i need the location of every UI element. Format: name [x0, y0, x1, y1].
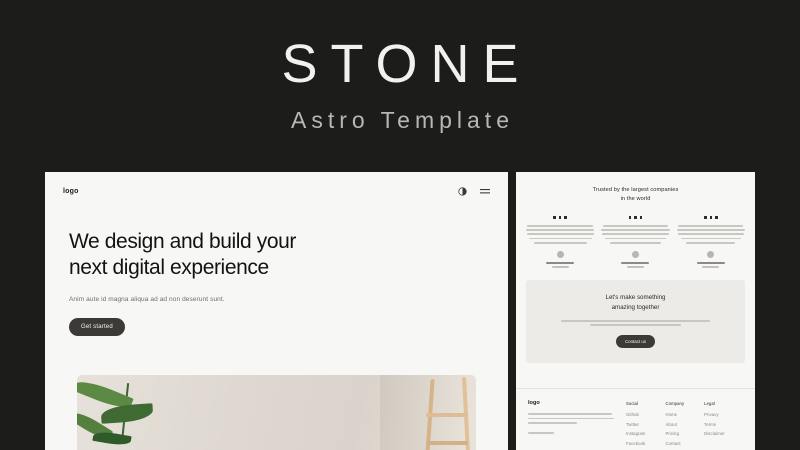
rating-stars — [526, 216, 594, 219]
footer-link[interactable]: Github — [626, 412, 646, 417]
hero-subheading: Anim aute id magna aliqua ad ad non dese… — [69, 296, 484, 303]
ladder-rung — [426, 413, 468, 417]
site-header: logo — [45, 177, 508, 205]
preview-panels: logo We design and build your next di — [45, 172, 755, 450]
avatar — [557, 251, 564, 258]
plant-leaf — [100, 403, 153, 424]
cta-section: Let's make something amazing together Co… — [526, 280, 745, 363]
landing-page-preview[interactable]: logo We design and build your next di — [45, 172, 508, 450]
footer-column-title: Social — [626, 401, 646, 406]
footer-column-company: Company Home About Pricing Contact — [666, 401, 685, 450]
footer-column-title: Company — [666, 401, 685, 406]
star-icon — [640, 216, 643, 219]
avatar — [707, 251, 714, 258]
footer-logo[interactable]: logo — [528, 400, 616, 406]
star-icon — [564, 216, 567, 219]
sections-page-preview[interactable]: Trusted by the largest companies in the … — [516, 172, 755, 450]
hero-image — [77, 375, 476, 450]
footer-link[interactable]: Pricing — [666, 431, 685, 436]
site-logo[interactable]: logo — [63, 188, 79, 195]
star-icon — [715, 216, 718, 219]
footer-column-legal: Legal Privacy Terms Disclaimer — [704, 401, 725, 450]
footer-link[interactable]: Contact — [666, 441, 685, 446]
star-icon — [559, 216, 562, 219]
testimonial-card[interactable] — [677, 216, 745, 268]
hero-heading: We design and build your next digital ex… — [69, 229, 339, 282]
star-icon — [710, 216, 713, 219]
testimonial-author-name — [697, 262, 725, 264]
ladder-rung — [426, 441, 468, 445]
rating-stars — [601, 216, 669, 219]
footer-column-title: Legal — [704, 401, 725, 406]
testimonial-quote — [677, 225, 745, 244]
footer-link[interactable]: Home — [666, 412, 685, 417]
cta-heading-line2: amazing together — [612, 304, 660, 311]
brand-title: STONE — [268, 37, 531, 91]
site-footer: logo Social Github Twitter Instagram Fac… — [516, 388, 755, 450]
footer-link[interactable]: Disclaimer — [704, 431, 725, 436]
avatar — [632, 251, 639, 258]
footer-link[interactable]: Instagram — [626, 431, 646, 436]
cta-description — [540, 320, 731, 326]
testimonial-author-role — [702, 266, 719, 268]
testimonial-author-role — [552, 266, 569, 268]
brand-subtitle: Astro Template — [286, 107, 514, 134]
contrast-icon[interactable] — [458, 187, 467, 196]
footer-column-social: Social Github Twitter Instagram Facebook — [626, 401, 646, 450]
testimonial-cards — [526, 216, 745, 268]
footer-link-columns: Social Github Twitter Instagram Facebook… — [626, 400, 725, 450]
footer-link[interactable]: About — [666, 422, 685, 427]
footer-link[interactable]: Privacy — [704, 412, 725, 417]
testimonials-heading-line1: Trusted by the largest companies — [593, 187, 679, 193]
star-icon — [629, 216, 632, 219]
contact-us-button[interactable]: Contact us — [616, 335, 655, 348]
star-icon — [704, 216, 707, 219]
testimonials-section: Trusted by the largest companies in the … — [516, 172, 755, 268]
star-icon — [634, 216, 637, 219]
testimonial-author-name — [546, 262, 574, 264]
footer-link[interactable]: Terms — [704, 422, 725, 427]
footer-brand: logo — [528, 400, 616, 450]
rating-stars — [677, 216, 745, 219]
testimonial-quote — [526, 225, 594, 244]
testimonials-heading-line2: in the world — [621, 196, 651, 202]
testimonial-quote — [601, 225, 669, 244]
testimonial-author-name — [621, 262, 649, 264]
cta-heading: Let's make something amazing together — [540, 293, 731, 313]
footer-copyright — [528, 432, 554, 434]
header-actions — [458, 187, 490, 196]
testimonial-card[interactable] — [526, 216, 594, 268]
plant-leaf — [92, 430, 131, 447]
testimonials-heading: Trusted by the largest companies in the … — [526, 186, 745, 203]
footer-description — [528, 413, 616, 424]
footer-link[interactable]: Twitter — [626, 422, 646, 427]
menu-icon[interactable] — [480, 188, 490, 195]
star-icon — [553, 216, 556, 219]
cta-heading-line1: Let's make something — [606, 294, 666, 301]
testimonial-card[interactable] — [601, 216, 669, 268]
masthead: STONE Astro Template — [0, 0, 800, 170]
footer-link[interactable]: Facebook — [626, 441, 646, 446]
hero-section: We design and build your next digital ex… — [45, 205, 508, 336]
get-started-button[interactable]: Get started — [69, 318, 125, 336]
testimonial-author-role — [627, 266, 644, 268]
